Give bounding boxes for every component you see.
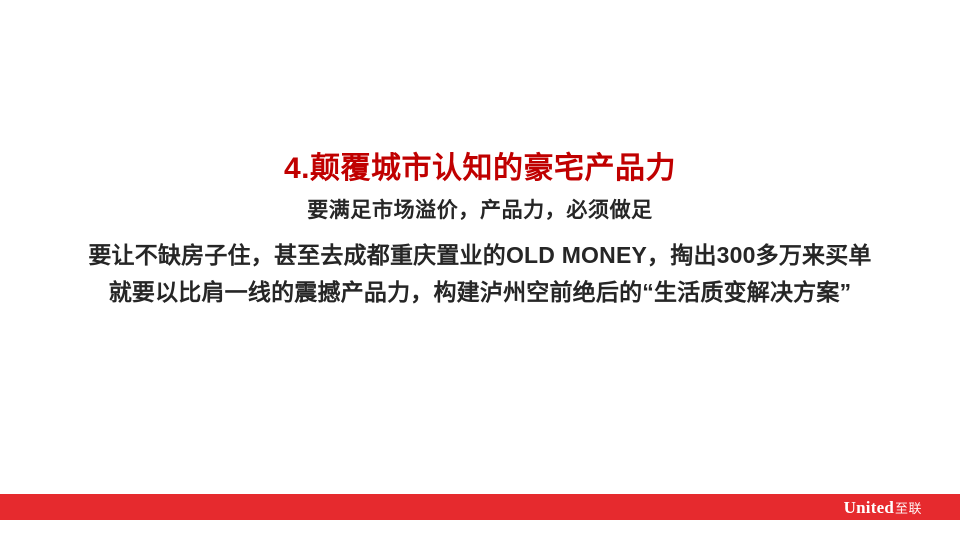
brand-logo: United 至联 xyxy=(844,494,922,520)
footer-bar: United 至联 xyxy=(0,494,960,520)
body-line: 就要以比肩一线的震撼产品力，构建泸州空前绝后的“生活质变解决方案” xyxy=(88,274,871,311)
brand-logo-cn: 至联 xyxy=(895,502,922,515)
slide-canvas: 4.颠覆城市认知的豪宅产品力 要满足市场溢价，产品力，必须做足 要让不缺房子住，… xyxy=(0,0,960,540)
page-title: 4.颠覆城市认知的豪宅产品力 xyxy=(284,152,676,187)
slide-content: 4.颠覆城市认知的豪宅产品力 要满足市场溢价，产品力，必须做足 要让不缺房子住，… xyxy=(0,0,960,480)
body-line: 要让不缺房子住，甚至去成都重庆置业的OLD MONEY，掏出300多万来买单 xyxy=(88,237,871,274)
brand-logo-en: United xyxy=(844,499,894,516)
slide-subtitle: 要满足市场溢价，产品力，必须做足 xyxy=(307,198,653,223)
body-text-block: 要让不缺房子住，甚至去成都重庆置业的OLD MONEY，掏出300多万来买单 就… xyxy=(88,237,871,312)
